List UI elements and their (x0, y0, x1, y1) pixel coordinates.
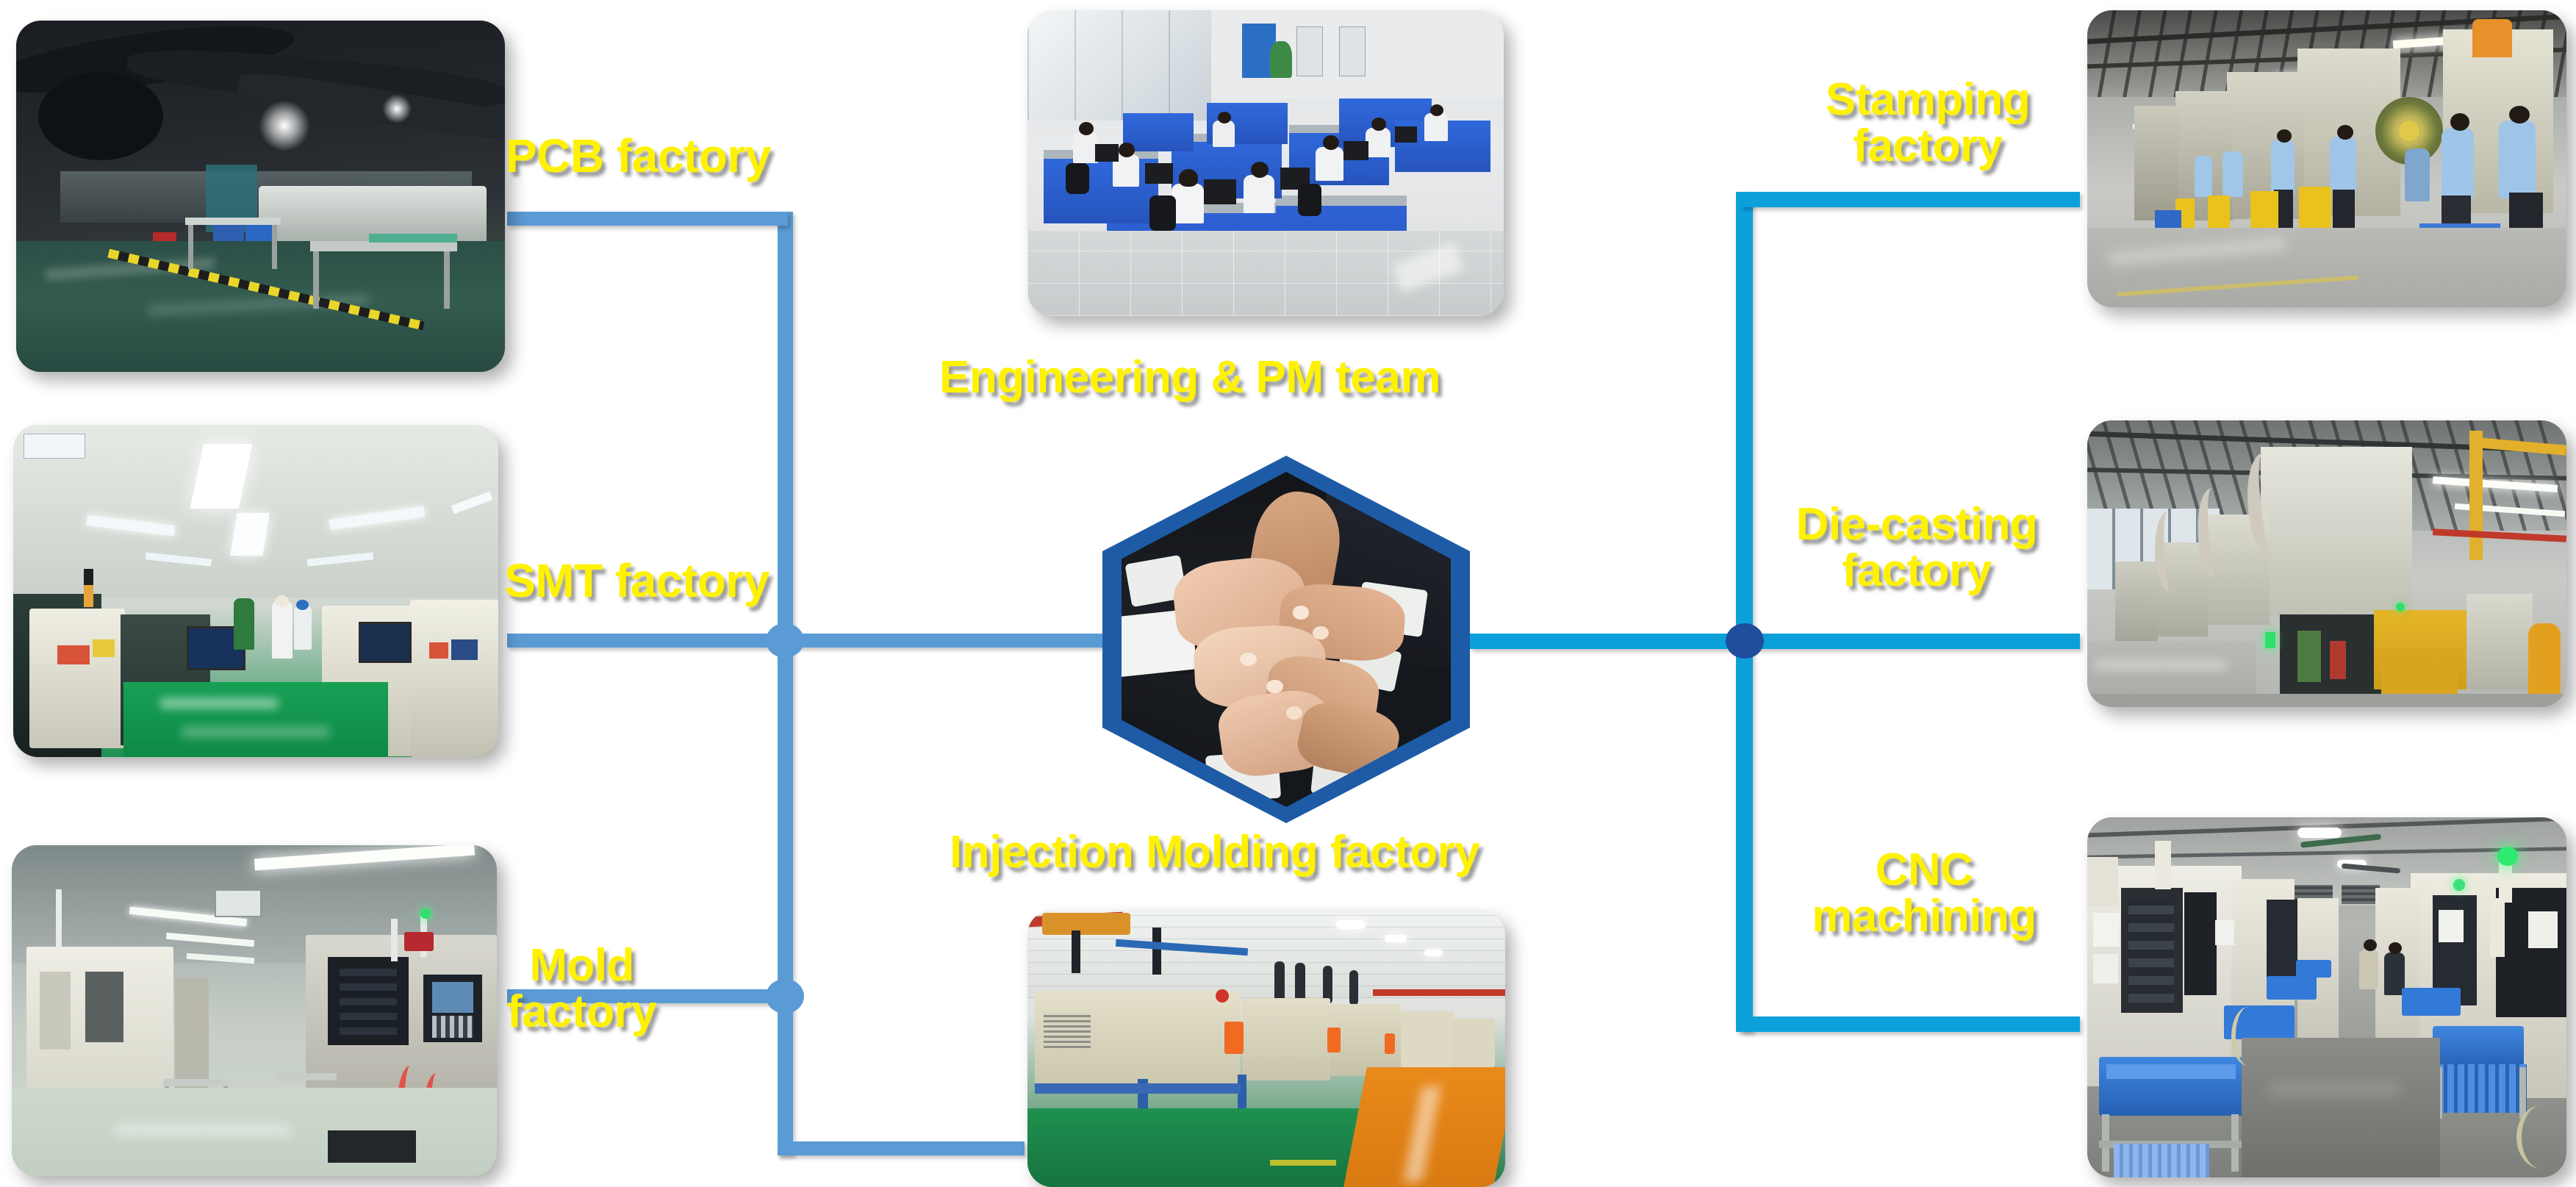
photo-smt-factory (13, 425, 498, 757)
connector-right-branch-cnc (1740, 1016, 2080, 1032)
label-pcb-factory: PCB factory (506, 132, 771, 180)
photo-stamping-factory (2087, 10, 2566, 307)
node-smt-junction (766, 623, 804, 658)
diagram-canvas: PCB factory SMT factory Mold factory Eng… (0, 0, 2576, 1187)
connector-left-branch-smt (507, 634, 788, 648)
node-mold-junction (766, 979, 804, 1014)
photo-mold-factory (12, 845, 497, 1176)
photo-engineering-pm-team (1027, 10, 1504, 316)
connector-right-branch-stamping (1740, 192, 2080, 207)
connector-left-branch-pcb (507, 212, 788, 226)
connector-left-to-hub (785, 634, 1102, 648)
label-mold-factory: Mold factory (507, 942, 656, 1035)
connector-right-branch-diecasting (1740, 634, 2080, 649)
label-smt-factory: SMT factory (504, 557, 769, 605)
label-injection-molding-factory: Injection Molding factory (950, 829, 1479, 875)
connector-left-branch-injection (778, 1141, 1025, 1155)
photo-die-casting-factory (2087, 420, 2566, 707)
connector-right-to-hub (1470, 634, 1749, 649)
label-stamping-factory: Stamping factory (1792, 76, 2064, 169)
label-cnc-machining: CNC machining (1777, 847, 2071, 939)
label-engineering-pm-team: Engineering & PM team (939, 354, 1441, 401)
hub-teamwork-hexagon (1102, 456, 1470, 823)
photo-injection-molding-factory (1027, 910, 1505, 1187)
node-diecasting-junction (1726, 623, 1764, 659)
label-die-casting-factory: Die-casting factory (1762, 501, 2071, 594)
photo-pcb-factory (16, 21, 505, 372)
connector-left-trunk (778, 212, 793, 1155)
connector-right-trunk (1736, 192, 1753, 1032)
photo-cnc-machining (2087, 817, 2566, 1177)
